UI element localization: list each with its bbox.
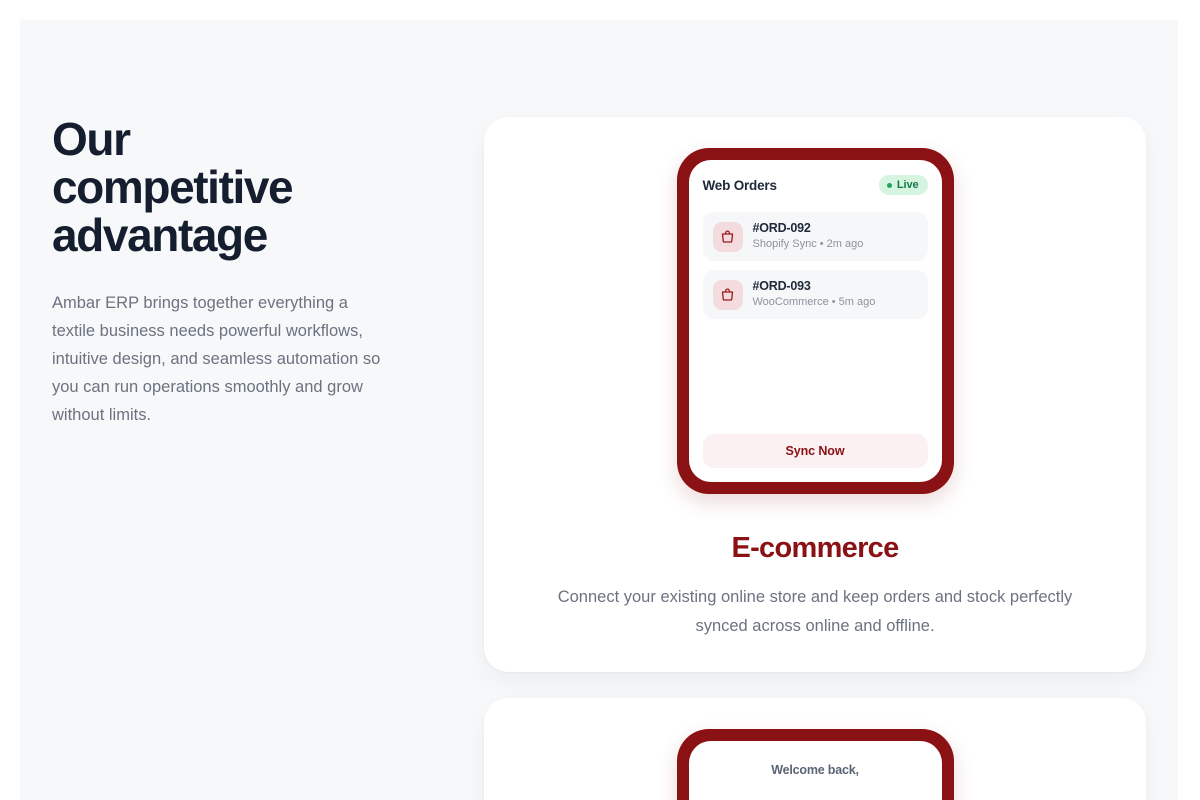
page-canvas: Our competitive advantage Ambar ERP brin… [20,20,1178,800]
phone-screen-header: Web Orders Live [703,175,928,195]
feature-card-list: Web Orders Live [484,117,1146,800]
phone-screen: Web Orders Live [689,160,942,482]
feature-title: E-commerce [536,531,1094,565]
status-badge-label: Live [897,179,919,191]
page-title: Our competitive advantage [52,115,432,259]
order-meta: WooCommerce • 5m ago [753,294,876,310]
phone-screen-spacer [703,319,928,434]
page-root: Our competitive advantage Ambar ERP brin… [0,0,1200,800]
status-badge-live: Live [879,175,928,195]
phone-mockup-web-orders: Web Orders Live [677,148,954,494]
phone-mockup-welcome: Welcome back, [677,729,954,800]
order-text-block: #ORD-092 Shopify Sync • 2m ago [753,221,864,252]
feature-description: Connect your existing online store and k… [536,583,1094,641]
intro-section: Our competitive advantage Ambar ERP brin… [52,115,432,429]
feature-card-ecommerce[interactable]: Web Orders Live [484,117,1146,672]
status-dot-icon [887,183,892,188]
feature-card-next[interactable]: Welcome back, [484,698,1146,800]
page-title-line-2: competitive [52,163,432,211]
order-id: #ORD-093 [753,279,876,294]
order-text-block: #ORD-093 WooCommerce • 5m ago [753,279,876,310]
phone-screen-title: Web Orders [703,178,777,193]
shopping-bag-icon [713,280,743,310]
welcome-greeting: Welcome back, [703,763,928,777]
page-subtitle: Ambar ERP brings together everything a t… [52,289,387,429]
shopping-bag-icon [713,222,743,252]
order-list-item[interactable]: #ORD-092 Shopify Sync • 2m ago [703,212,928,261]
order-meta: Shopify Sync • 2m ago [753,236,864,252]
page-title-line-3: advantage [52,211,432,259]
page-title-line-1: Our [52,115,432,163]
sync-now-button[interactable]: Sync Now [703,434,928,468]
phone-screen: Welcome back, [689,741,942,800]
order-id: #ORD-092 [753,221,864,236]
feature-caption: E-commerce Connect your existing online … [484,494,1146,672]
order-list: #ORD-092 Shopify Sync • 2m ago [703,212,928,319]
order-list-item[interactable]: #ORD-093 WooCommerce • 5m ago [703,270,928,319]
